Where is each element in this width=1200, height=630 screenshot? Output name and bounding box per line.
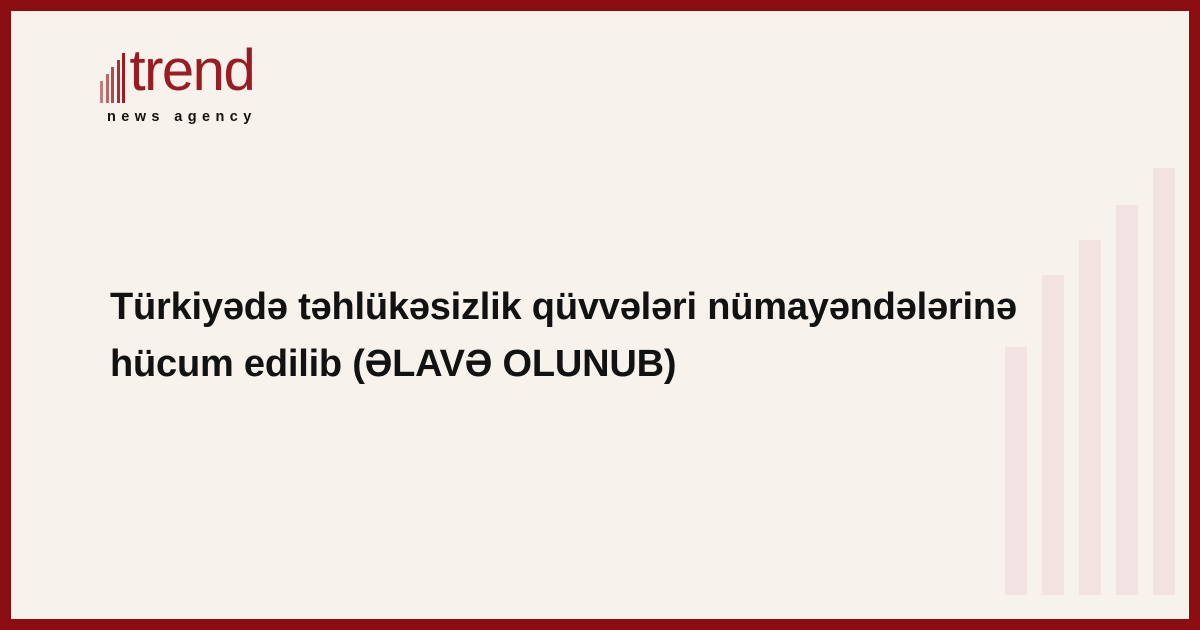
brand-tagline: news agency	[107, 109, 400, 125]
decorative-bar-1-stem	[1005, 381, 1027, 595]
decorative-bar-2-stem	[1042, 309, 1064, 595]
brand-wordmark: trend	[130, 45, 255, 97]
decorative-bar-2	[1042, 275, 1064, 595]
decorative-bar-5-stem	[1153, 202, 1175, 595]
decorative-bar-3-stem	[1079, 274, 1101, 595]
decorative-bar-3-tip	[1079, 240, 1101, 274]
decorative-bar-4-tip	[1116, 205, 1138, 239]
decorative-bar-5	[1153, 168, 1175, 595]
ascending-bars-icon	[100, 49, 128, 103]
decorative-bar-3	[1079, 240, 1101, 595]
brand-logo[interactable]: trend news agency	[100, 49, 400, 125]
decorative-bar-chart	[1005, 11, 1180, 619]
decorative-bar-4	[1116, 205, 1138, 595]
decorative-bar-4-stem	[1116, 239, 1138, 595]
decorative-bar-5-tip	[1153, 168, 1175, 202]
card-canvas: trend news agency Türkiyədə təhlükəsizli…	[11, 11, 1189, 619]
decorative-bar-2-tip	[1042, 275, 1064, 309]
brand-logo-mark: trend	[100, 49, 400, 103]
social-share-card: trend news agency Türkiyədə təhlükəsizli…	[0, 0, 1200, 630]
article-headline: Türkiyədə təhlükəsizlik qüvvələri nümayə…	[110, 279, 1030, 393]
